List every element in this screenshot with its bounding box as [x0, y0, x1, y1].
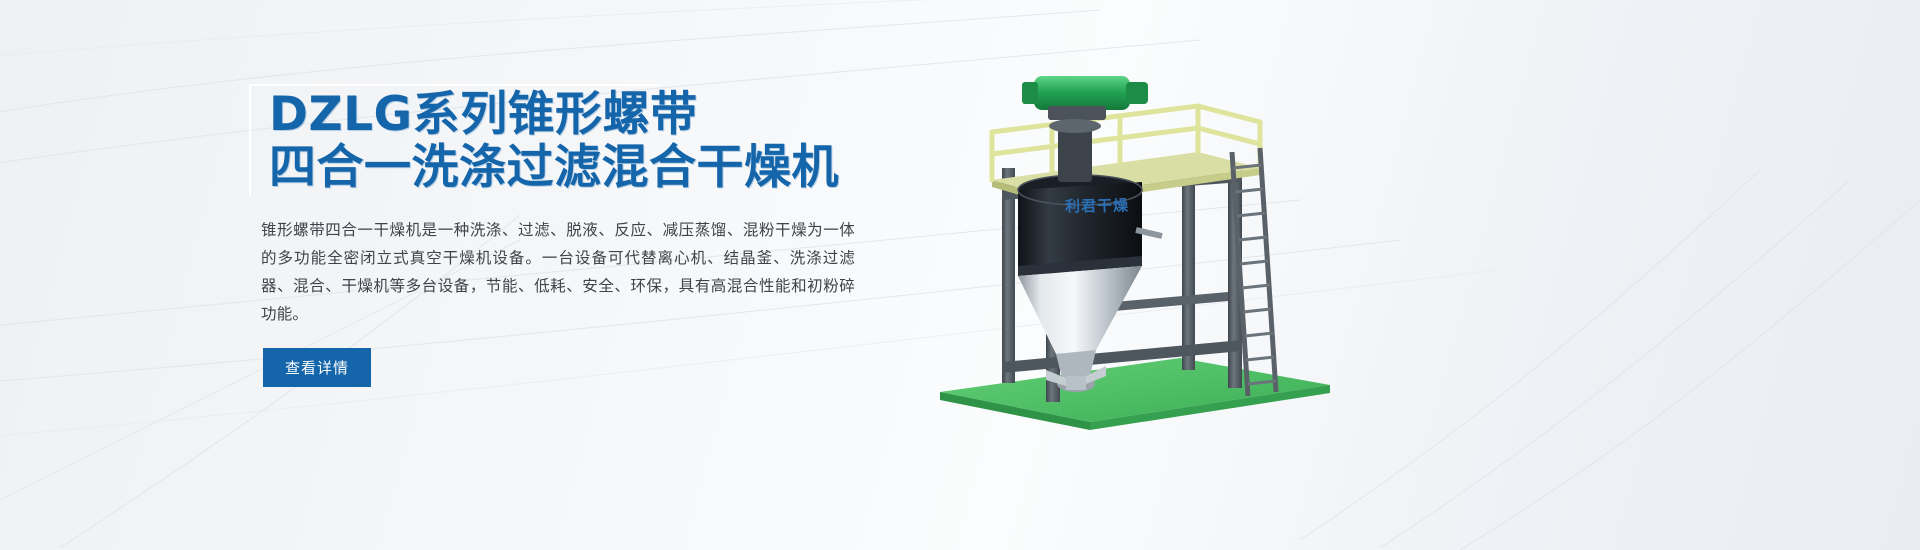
headline-line-1: DZLG系列锥形螺带: [255, 88, 895, 141]
view-details-button[interactable]: 查看详情: [263, 348, 371, 387]
product-description: 锥形螺带四合一干燥机是一种洗涤、过滤、脱液、反应、减压蒸馏、混粉干燥为一体的多功…: [255, 216, 855, 328]
banner-text-block: DZLG系列锥形螺带 四合一洗涤过滤混合干燥机 锥形螺带四合一干燥机是一种洗涤、…: [255, 88, 895, 387]
page-title: DZLG系列锥形螺带 四合一洗涤过滤混合干燥机: [255, 88, 895, 194]
green-base-platform: [940, 358, 1330, 430]
product-image: [930, 40, 1350, 440]
headline-line-2: 四合一洗涤过滤混合干燥机: [255, 141, 895, 194]
